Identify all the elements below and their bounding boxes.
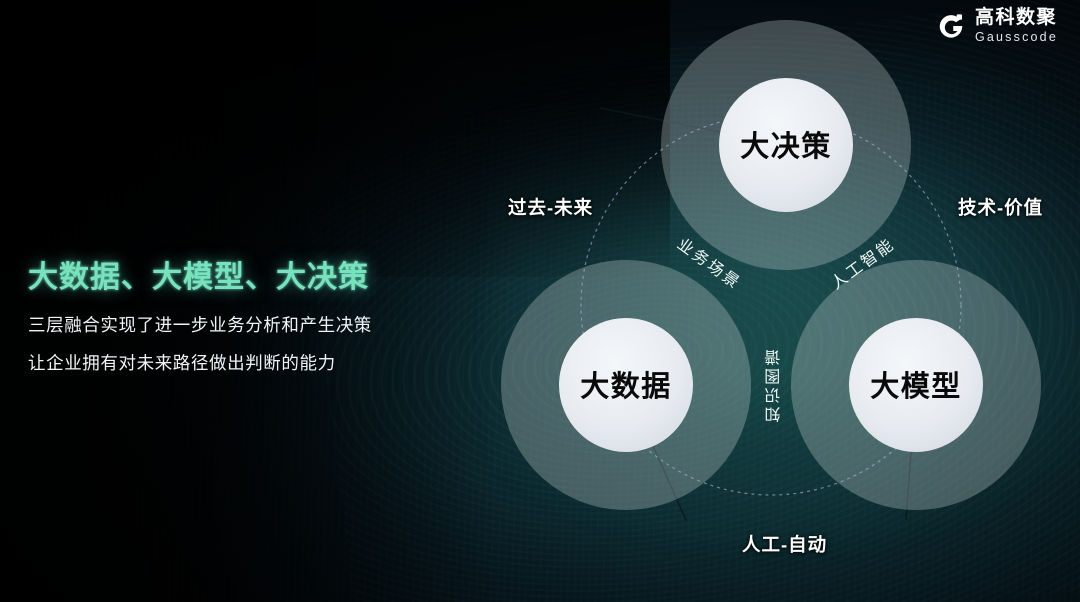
brand-name-en: Gausscode bbox=[975, 31, 1058, 44]
core-label-bigdata: 大数据 bbox=[580, 370, 672, 403]
axis-label-past-future: 过去-未来 bbox=[508, 194, 593, 220]
core-label-bigmodel: 大模型 bbox=[870, 370, 962, 403]
subtitle-line-2: 让企业拥有对未来路径做出判断的能力 bbox=[28, 350, 498, 375]
page-title: 大数据、大模型、大决策 bbox=[28, 252, 498, 296]
brand-name-cn: 高科数聚 bbox=[975, 8, 1058, 27]
brand-logo[interactable]: 高科数聚 Gausscode bbox=[936, 8, 1058, 44]
slide-canvas: 大决策 大数据 大模型 业务场景 人工智能 知识图谱 过去-未来 技术-价值 人… bbox=[0, 0, 1080, 602]
axis-label-tech-value: 技术-价值 bbox=[958, 194, 1043, 220]
intersection-label-knowledge-graph: 知识图谱 bbox=[762, 348, 781, 423]
subtitle-line-1: 三层融合实现了进一步业务分析和产生决策 bbox=[28, 312, 498, 337]
brand-logo-text: 高科数聚 Gausscode bbox=[975, 8, 1058, 44]
gausscode-c-mark-icon bbox=[936, 11, 966, 41]
core-label-decision: 大决策 bbox=[740, 129, 832, 163]
axis-label-manual-auto: 人工-自动 bbox=[742, 531, 827, 557]
copy-block: 大数据、大模型、大决策 三层融合实现了进一步业务分析和产生决策 让企业拥有对未来… bbox=[28, 252, 498, 388]
